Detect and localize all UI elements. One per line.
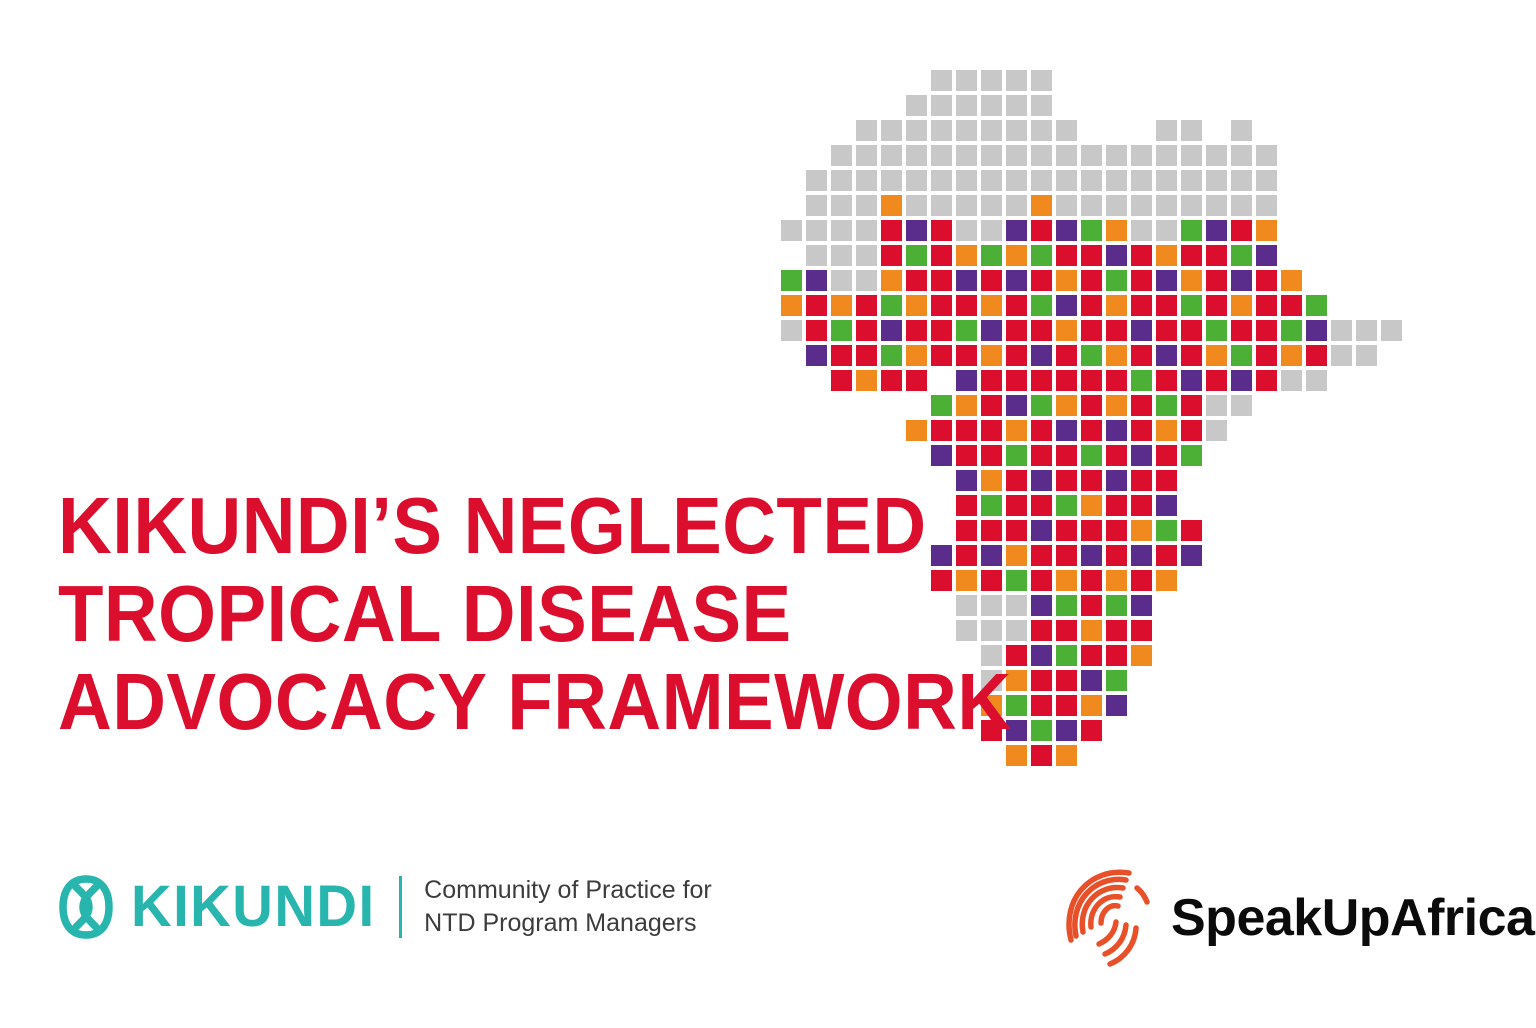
map-tile-red bbox=[956, 345, 977, 366]
map-tile-red bbox=[1106, 370, 1127, 391]
map-tile-green bbox=[1106, 270, 1127, 291]
map-tile-grey bbox=[1056, 145, 1077, 166]
map-tile-purple bbox=[1306, 320, 1327, 341]
map-tile-grey bbox=[856, 170, 877, 191]
map-tile-red bbox=[831, 345, 852, 366]
map-tile-red bbox=[1256, 320, 1277, 341]
map-tile-grey bbox=[1256, 170, 1277, 191]
map-tile-grey bbox=[981, 145, 1002, 166]
map-tile-orange bbox=[831, 295, 852, 316]
map-tile-orange bbox=[1156, 570, 1177, 591]
map-tile-orange bbox=[1106, 570, 1127, 591]
map-tile-red bbox=[1206, 245, 1227, 266]
map-tile-green bbox=[1081, 345, 1102, 366]
map-tile-red bbox=[931, 420, 952, 441]
map-tile-grey bbox=[1331, 345, 1352, 366]
map-tile-grey bbox=[956, 220, 977, 241]
map-tile-green bbox=[1106, 670, 1127, 691]
map-tile-orange bbox=[1131, 520, 1152, 541]
map-tile-grey bbox=[1231, 170, 1252, 191]
map-tile-red bbox=[856, 345, 877, 366]
map-tile-red bbox=[1081, 595, 1102, 616]
map-tile-red bbox=[906, 270, 927, 291]
map-tile-purple bbox=[1056, 420, 1077, 441]
map-tile-green bbox=[831, 320, 852, 341]
map-tile-purple bbox=[1156, 345, 1177, 366]
map-tile-red bbox=[1156, 470, 1177, 491]
map-tile-orange bbox=[881, 270, 902, 291]
map-tile-grey bbox=[831, 195, 852, 216]
map-tile-green bbox=[781, 270, 802, 291]
map-tile-red bbox=[906, 370, 927, 391]
map-tile-purple bbox=[1006, 395, 1027, 416]
map-tile-red bbox=[1106, 545, 1127, 566]
map-tile-green bbox=[1031, 720, 1052, 741]
map-tile-red bbox=[1131, 245, 1152, 266]
map-tile-orange bbox=[1131, 645, 1152, 666]
map-tile-red bbox=[1131, 295, 1152, 316]
map-tile-grey bbox=[831, 245, 852, 266]
map-tile-grey bbox=[781, 220, 802, 241]
map-tile-green bbox=[1156, 520, 1177, 541]
map-tile-red bbox=[806, 320, 827, 341]
map-tile-red bbox=[1206, 270, 1227, 291]
map-tile-red bbox=[1081, 295, 1102, 316]
title-line-3: ADVOCACY FRAMEWORK bbox=[58, 658, 951, 746]
map-tile-purple bbox=[1131, 445, 1152, 466]
map-tile-purple bbox=[1131, 595, 1152, 616]
map-tile-grey bbox=[1206, 170, 1227, 191]
map-tile-orange bbox=[981, 345, 1002, 366]
map-tile-grey bbox=[906, 170, 927, 191]
map-tile-red bbox=[1181, 245, 1202, 266]
map-tile-grey bbox=[1006, 195, 1027, 216]
map-tile-red bbox=[1056, 620, 1077, 641]
map-tile-red bbox=[931, 295, 952, 316]
map-tile-red bbox=[1056, 520, 1077, 541]
map-tile-red bbox=[931, 345, 952, 366]
map-tile-grey bbox=[1131, 145, 1152, 166]
map-tile-green bbox=[1031, 395, 1052, 416]
map-tile-grey bbox=[1181, 170, 1202, 191]
map-tile-red bbox=[1031, 620, 1052, 641]
map-tile-red bbox=[1056, 345, 1077, 366]
map-tile-red bbox=[1031, 545, 1052, 566]
map-tile-red bbox=[1106, 620, 1127, 641]
map-tile-red bbox=[1156, 295, 1177, 316]
kikundi-tagline-line-2: NTD Program Managers bbox=[424, 907, 712, 940]
map-tile-grey bbox=[881, 120, 902, 141]
map-tile-grey bbox=[856, 270, 877, 291]
map-tile-red bbox=[906, 320, 927, 341]
map-tile-green bbox=[1081, 445, 1102, 466]
map-tile-orange bbox=[1106, 295, 1127, 316]
map-tile-grey bbox=[1081, 170, 1102, 191]
map-tile-red bbox=[956, 420, 977, 441]
map-tile-grey bbox=[981, 120, 1002, 141]
map-tile-grey bbox=[856, 195, 877, 216]
map-tile-red bbox=[1131, 620, 1152, 641]
map-tile-green bbox=[1181, 220, 1202, 241]
map-tile-grey bbox=[1306, 370, 1327, 391]
map-tile-orange bbox=[1231, 295, 1252, 316]
map-tile-orange bbox=[1106, 345, 1127, 366]
map-tile-grey bbox=[1106, 145, 1127, 166]
map-tile-red bbox=[1081, 720, 1102, 741]
map-tile-green bbox=[1056, 495, 1077, 516]
map-tile-orange bbox=[1056, 270, 1077, 291]
map-tile-green bbox=[906, 245, 927, 266]
map-tile-grey bbox=[1256, 195, 1277, 216]
map-tile-green bbox=[881, 295, 902, 316]
map-tile-red bbox=[1156, 545, 1177, 566]
map-tile-orange bbox=[1056, 395, 1077, 416]
map-tile-red bbox=[1081, 245, 1102, 266]
map-tile-red bbox=[1156, 445, 1177, 466]
map-tile-grey bbox=[931, 95, 952, 116]
map-tile-grey bbox=[1181, 195, 1202, 216]
map-tile-grey bbox=[981, 195, 1002, 216]
map-tile-orange bbox=[1281, 270, 1302, 291]
map-tile-red bbox=[1181, 320, 1202, 341]
map-tile-purple bbox=[1156, 495, 1177, 516]
map-tile-green bbox=[1306, 295, 1327, 316]
map-tile-orange bbox=[981, 295, 1002, 316]
map-tile-red bbox=[1056, 695, 1077, 716]
map-tile-green bbox=[1281, 320, 1302, 341]
map-tile-grey bbox=[881, 170, 902, 191]
map-tile-grey bbox=[906, 95, 927, 116]
map-tile-grey bbox=[1131, 220, 1152, 241]
map-tile-grey bbox=[981, 95, 1002, 116]
map-tile-grey bbox=[1031, 70, 1052, 91]
map-tile-red bbox=[956, 295, 977, 316]
map-tile-red bbox=[956, 445, 977, 466]
map-tile-purple bbox=[931, 445, 952, 466]
map-tile-red bbox=[1181, 420, 1202, 441]
map-tile-grey bbox=[1206, 145, 1227, 166]
map-tile-red bbox=[1256, 370, 1277, 391]
kikundi-logo-divider bbox=[399, 876, 402, 938]
map-tile-grey bbox=[1156, 195, 1177, 216]
map-tile-red bbox=[1031, 445, 1052, 466]
kikundi-logo: KIKUNDI Community of Practice for NTD Pr… bbox=[55, 872, 712, 942]
map-tile-purple bbox=[1006, 270, 1027, 291]
map-tile-red bbox=[1131, 470, 1152, 491]
map-tile-grey bbox=[1331, 320, 1352, 341]
map-tile-red bbox=[1131, 495, 1152, 516]
map-tile-green bbox=[1206, 320, 1227, 341]
map-tile-orange bbox=[1056, 570, 1077, 591]
map-tile-red bbox=[1106, 445, 1127, 466]
map-tile-grey bbox=[1081, 145, 1102, 166]
map-tile-red bbox=[981, 445, 1002, 466]
map-tile-red bbox=[1031, 670, 1052, 691]
map-tile-red bbox=[1156, 320, 1177, 341]
map-tile-purple bbox=[1181, 545, 1202, 566]
map-tile-orange bbox=[1156, 420, 1177, 441]
map-tile-red bbox=[981, 420, 1002, 441]
map-tile-grey bbox=[956, 70, 977, 91]
map-tile-red bbox=[1056, 370, 1077, 391]
map-tile-red bbox=[1056, 445, 1077, 466]
map-tile-grey bbox=[1206, 395, 1227, 416]
map-tile-green bbox=[1156, 395, 1177, 416]
map-tile-green bbox=[1056, 595, 1077, 616]
map-tile-red bbox=[1256, 345, 1277, 366]
map-tile-red bbox=[1081, 320, 1102, 341]
map-tile-purple bbox=[1056, 220, 1077, 241]
map-tile-red bbox=[1106, 645, 1127, 666]
map-tile-purple bbox=[1206, 220, 1227, 241]
map-tile-purple bbox=[1031, 345, 1052, 366]
kikundi-tagline-line-1: Community of Practice for bbox=[424, 874, 712, 907]
map-tile-red bbox=[1006, 320, 1027, 341]
map-tile-red bbox=[831, 370, 852, 391]
map-tile-grey bbox=[981, 170, 1002, 191]
map-tile-grey bbox=[931, 170, 952, 191]
map-tile-grey bbox=[931, 70, 952, 91]
map-tile-purple bbox=[1056, 295, 1077, 316]
map-tile-grey bbox=[831, 145, 852, 166]
map-tile-grey bbox=[1006, 120, 1027, 141]
map-tile-grey bbox=[831, 220, 852, 241]
map-tile-red bbox=[1031, 570, 1052, 591]
title-line-1: KIKUNDI’S NEGLECTED bbox=[58, 482, 951, 570]
map-tile-purple bbox=[1006, 220, 1027, 241]
map-tile-green bbox=[1031, 245, 1052, 266]
map-tile-purple bbox=[981, 320, 1002, 341]
map-tile-green bbox=[1231, 345, 1252, 366]
map-tile-grey bbox=[1006, 145, 1027, 166]
map-tile-grey bbox=[1031, 145, 1052, 166]
kikundi-tagline: Community of Practice for NTD Program Ma… bbox=[424, 874, 712, 940]
map-tile-purple bbox=[1081, 670, 1102, 691]
map-tile-grey bbox=[1206, 195, 1227, 216]
map-tile-orange bbox=[1081, 495, 1102, 516]
map-tile-red bbox=[1031, 320, 1052, 341]
map-tile-grey bbox=[956, 195, 977, 216]
map-tile-grey bbox=[806, 195, 827, 216]
map-tile-grey bbox=[1156, 145, 1177, 166]
map-tile-red bbox=[881, 220, 902, 241]
map-tile-red bbox=[1031, 495, 1052, 516]
map-tile-grey bbox=[956, 120, 977, 141]
map-tile-purple bbox=[881, 320, 902, 341]
map-tile-orange bbox=[956, 245, 977, 266]
map-tile-grey bbox=[906, 195, 927, 216]
soundwave-fingerprint-arcs-icon bbox=[1063, 866, 1155, 970]
map-tile-red bbox=[1181, 520, 1202, 541]
map-tile-red bbox=[1131, 395, 1152, 416]
map-tile-red bbox=[1081, 420, 1102, 441]
map-tile-red bbox=[1006, 370, 1027, 391]
map-tile-purple bbox=[1031, 470, 1052, 491]
map-tile-red bbox=[931, 270, 952, 291]
map-tile-grey bbox=[1206, 420, 1227, 441]
map-tile-grey bbox=[931, 195, 952, 216]
map-tile-red bbox=[981, 395, 1002, 416]
map-tile-grey bbox=[831, 270, 852, 291]
map-tile-red bbox=[1256, 270, 1277, 291]
page-title: KIKUNDI’S NEGLECTED TROPICAL DISEASE ADV… bbox=[58, 482, 1018, 746]
map-tile-green bbox=[1181, 295, 1202, 316]
map-tile-purple bbox=[1106, 470, 1127, 491]
map-tile-orange bbox=[1006, 245, 1027, 266]
map-tile-grey bbox=[1231, 145, 1252, 166]
map-tile-orange bbox=[906, 420, 927, 441]
map-tile-grey bbox=[931, 145, 952, 166]
map-tile-purple bbox=[1106, 420, 1127, 441]
map-tile-green bbox=[1181, 445, 1202, 466]
map-tile-grey bbox=[1031, 170, 1052, 191]
map-tile-orange bbox=[1006, 745, 1027, 766]
map-tile-grey bbox=[781, 320, 802, 341]
map-tile-orange bbox=[856, 370, 877, 391]
map-tile-orange bbox=[1006, 420, 1027, 441]
map-tile-red bbox=[1031, 420, 1052, 441]
map-tile-orange bbox=[1081, 620, 1102, 641]
map-tile-grey bbox=[1156, 120, 1177, 141]
map-tile-grey bbox=[1031, 120, 1052, 141]
map-tile-grey bbox=[806, 170, 827, 191]
map-tile-grey bbox=[931, 120, 952, 141]
map-tile-grey bbox=[1131, 195, 1152, 216]
map-tile-red bbox=[1181, 395, 1202, 416]
map-tile-red bbox=[1181, 345, 1202, 366]
map-tile-purple bbox=[1181, 370, 1202, 391]
map-tile-grey bbox=[1081, 195, 1102, 216]
map-tile-red bbox=[1006, 345, 1027, 366]
map-tile-red bbox=[1131, 420, 1152, 441]
speakupafrica-wordmark: SpeakUpAfrica. bbox=[1171, 890, 1536, 946]
map-tile-red bbox=[1106, 520, 1127, 541]
map-tile-red bbox=[1081, 645, 1102, 666]
map-tile-red bbox=[1231, 320, 1252, 341]
map-tile-red bbox=[1031, 695, 1052, 716]
map-tile-grey bbox=[856, 145, 877, 166]
map-tile-grey bbox=[1181, 145, 1202, 166]
map-tile-grey bbox=[856, 220, 877, 241]
map-tile-red bbox=[1206, 295, 1227, 316]
map-tile-red bbox=[881, 370, 902, 391]
map-tile-purple bbox=[956, 370, 977, 391]
map-tile-red bbox=[1131, 270, 1152, 291]
map-tile-grey bbox=[1106, 195, 1127, 216]
map-tile-orange bbox=[1281, 345, 1302, 366]
map-tile-red bbox=[981, 270, 1002, 291]
map-tile-red bbox=[1031, 745, 1052, 766]
map-tile-grey bbox=[1156, 220, 1177, 241]
map-tile-red bbox=[1281, 295, 1302, 316]
map-tile-purple bbox=[956, 270, 977, 291]
map-tile-grey bbox=[1006, 95, 1027, 116]
title-line-2: TROPICAL DISEASE bbox=[58, 570, 951, 658]
map-tile-green bbox=[1006, 445, 1027, 466]
map-tile-grey bbox=[1106, 170, 1127, 191]
map-tile-grey bbox=[906, 145, 927, 166]
map-tile-purple bbox=[806, 270, 827, 291]
map-tile-green bbox=[1056, 645, 1077, 666]
map-tile-red bbox=[1031, 270, 1052, 291]
map-tile-red bbox=[1056, 670, 1077, 691]
map-tile-red bbox=[931, 320, 952, 341]
map-tile-orange bbox=[881, 195, 902, 216]
map-tile-red bbox=[1131, 570, 1152, 591]
map-tile-grey bbox=[981, 70, 1002, 91]
map-tile-red bbox=[1081, 470, 1102, 491]
map-tile-red bbox=[1031, 220, 1052, 241]
map-tile-grey bbox=[1356, 345, 1377, 366]
map-tile-orange bbox=[1106, 395, 1127, 416]
map-tile-grey bbox=[831, 170, 852, 191]
map-tile-purple bbox=[1231, 270, 1252, 291]
map-tile-red bbox=[1056, 545, 1077, 566]
map-tile-purple bbox=[1131, 320, 1152, 341]
map-tile-green bbox=[956, 320, 977, 341]
map-tile-red bbox=[1156, 370, 1177, 391]
map-tile-orange bbox=[1106, 220, 1127, 241]
map-tile-grey bbox=[1231, 195, 1252, 216]
map-tile-red bbox=[1031, 370, 1052, 391]
map-tile-orange bbox=[781, 295, 802, 316]
map-tile-purple bbox=[806, 345, 827, 366]
map-tile-grey bbox=[1356, 320, 1377, 341]
kikundi-wordmark: KIKUNDI bbox=[131, 876, 376, 938]
map-tile-grey bbox=[1181, 120, 1202, 141]
map-tile-red bbox=[1081, 270, 1102, 291]
map-tile-grey bbox=[906, 120, 927, 141]
map-tile-grey bbox=[1056, 195, 1077, 216]
map-tile-red bbox=[931, 220, 952, 241]
map-tile-red bbox=[1256, 295, 1277, 316]
map-tile-orange bbox=[906, 295, 927, 316]
map-tile-red bbox=[856, 320, 877, 341]
map-tile-purple bbox=[1081, 545, 1102, 566]
map-tile-red bbox=[1131, 345, 1152, 366]
map-tile-red bbox=[1006, 295, 1027, 316]
map-tile-orange bbox=[906, 345, 927, 366]
map-tile-orange bbox=[1056, 745, 1077, 766]
map-tile-red bbox=[856, 295, 877, 316]
kikundi-interlocking-loops-icon bbox=[55, 872, 117, 942]
map-tile-grey bbox=[1131, 170, 1152, 191]
map-tile-grey bbox=[1381, 320, 1402, 341]
map-tile-red bbox=[1231, 220, 1252, 241]
map-tile-orange bbox=[1081, 695, 1102, 716]
map-tile-red bbox=[1081, 520, 1102, 541]
map-tile-grey bbox=[956, 170, 977, 191]
map-tile-red bbox=[1081, 570, 1102, 591]
map-tile-red bbox=[1106, 320, 1127, 341]
map-tile-red bbox=[1081, 395, 1102, 416]
map-tile-orange bbox=[956, 395, 977, 416]
map-tile-purple bbox=[906, 220, 927, 241]
map-tile-purple bbox=[1031, 595, 1052, 616]
map-tile-grey bbox=[981, 220, 1002, 241]
map-tile-purple bbox=[1056, 720, 1077, 741]
map-tile-grey bbox=[806, 245, 827, 266]
map-tile-grey bbox=[1156, 170, 1177, 191]
map-tile-orange bbox=[1206, 345, 1227, 366]
map-tile-green bbox=[931, 395, 952, 416]
map-tile-purple bbox=[1231, 370, 1252, 391]
map-tile-green bbox=[881, 345, 902, 366]
map-tile-grey bbox=[1006, 70, 1027, 91]
map-tile-grey bbox=[1056, 120, 1077, 141]
map-tile-grey bbox=[1031, 95, 1052, 116]
map-tile-grey bbox=[856, 120, 877, 141]
